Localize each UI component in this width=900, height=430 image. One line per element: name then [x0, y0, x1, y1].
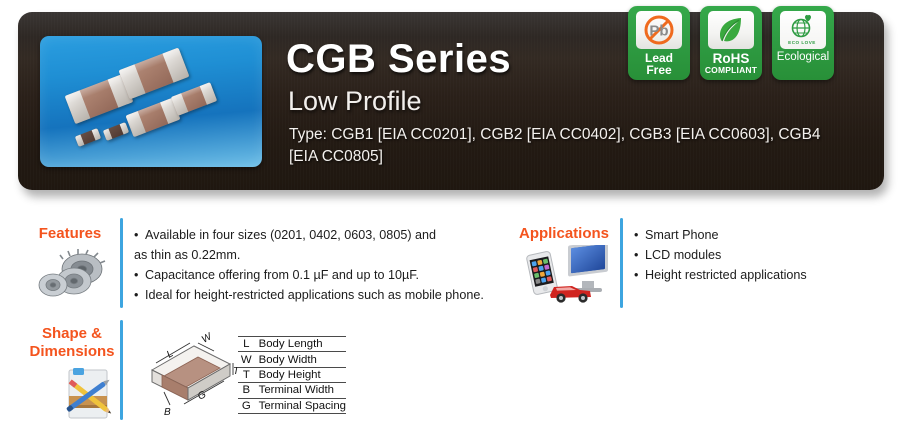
- badge-lead-free: Pb Lead Free: [628, 6, 690, 80]
- product-photo: [40, 36, 262, 167]
- applications-list: •Smart Phone •LCD modules •Height restri…: [634, 226, 807, 286]
- features-item-1: Capacitance offering from 0.1 µF and up …: [145, 268, 419, 282]
- badge-ecological-text: Ecological: [777, 52, 829, 64]
- list-item: •Smart Phone: [634, 226, 807, 246]
- applications-item-2: Height restricted applications: [645, 268, 807, 282]
- dim-description: Body Length: [255, 337, 346, 352]
- shape-dimensions-label: Shape & Dimensions: [22, 325, 122, 360]
- badge-lead-free-text: Lead Free: [645, 52, 673, 76]
- chip-capacitor-medium-2: [171, 82, 217, 116]
- applications-divider: [620, 218, 623, 308]
- diagram-label-B: B: [164, 407, 171, 418]
- chip-capacitor-large-2: [119, 48, 190, 100]
- shape-dimensions-divider: [120, 320, 123, 420]
- type-line: Type: CGB1 [EIA CC0201], CGB2 [EIA CC040…: [289, 124, 829, 168]
- svg-text:Pb: Pb: [649, 23, 668, 40]
- notepad-pencil-icon: [57, 366, 119, 424]
- chip-capacitor-small-2: [103, 122, 129, 141]
- applications-item-1: LCD modules: [645, 248, 721, 262]
- table-row: L Body Length: [238, 337, 346, 352]
- dim-description: Body Width: [255, 352, 346, 367]
- datasheet-page: CGB Series Low Profile Type: CGB1 [EIA C…: [0, 0, 900, 430]
- badge-lead-free-line2: Free: [645, 64, 673, 76]
- features-divider: [120, 218, 123, 308]
- chip-capacitor-small-1: [75, 128, 101, 147]
- table-row: W Body Width: [238, 352, 346, 367]
- features-item-0: Available in four sizes (0201, 0402, 060…: [134, 228, 436, 262]
- table-row: G Terminal Spacing: [238, 398, 346, 413]
- table-row: T Body Height: [238, 367, 346, 382]
- series-subtitle: Low Profile: [288, 85, 846, 117]
- list-item: •LCD modules: [634, 246, 807, 266]
- list-item: •Ideal for height-restricted application…: [134, 286, 484, 306]
- table-row: B Terminal Width: [238, 383, 346, 398]
- dim-symbol: W: [238, 352, 255, 367]
- badge-rohs-line2: COMPLIANT: [705, 66, 757, 75]
- badge-ecological: ECO LOVE Ecological: [772, 6, 834, 80]
- applications-label: Applications: [512, 225, 616, 243]
- eco-love-globe-icon: ECO LOVE: [780, 11, 826, 49]
- gears-icon: [36, 247, 110, 303]
- shape-label-line2: Dimensions: [22, 343, 122, 361]
- badge-rohs-compliant: RoHS COMPLIANT: [700, 6, 762, 80]
- dim-symbol: L: [238, 337, 255, 352]
- dim-symbol: B: [238, 383, 255, 398]
- list-item: •Available in four sizes (0201, 0402, 06…: [134, 226, 444, 266]
- dim-description: Terminal Width: [255, 383, 346, 398]
- features-item-2: Ideal for height-restricted applications…: [145, 288, 484, 302]
- dim-description: Terminal Spacing: [255, 398, 346, 413]
- shape-label-line1: Shape &: [22, 325, 122, 343]
- dim-description: Body Height: [255, 367, 346, 382]
- eco-love-caption: ECO LOVE: [788, 40, 816, 45]
- applications-item-0: Smart Phone: [645, 228, 719, 242]
- badge-rohs-text: RoHS COMPLIANT: [705, 52, 757, 74]
- features-list: •Available in four sizes (0201, 0402, 06…: [134, 226, 484, 306]
- list-item: •Height restricted applications: [634, 266, 807, 286]
- badge-ecological-line1: Ecological: [777, 52, 829, 64]
- dim-symbol: T: [238, 367, 255, 382]
- chip-capacitor-3d-diagram: L W T G B: [138, 330, 242, 422]
- features-label: Features: [26, 225, 114, 243]
- chip-capacitor-medium-1: [126, 98, 181, 137]
- pb-no-lead-icon: Pb: [636, 11, 682, 49]
- devices-icon: [524, 245, 616, 305]
- dim-symbol: G: [238, 398, 255, 413]
- badge-rohs-line1: RoHS: [705, 52, 757, 66]
- list-item: •Capacitance offering from 0.1 µF and up…: [134, 266, 484, 286]
- diagram-label-W: W: [200, 331, 215, 346]
- certification-badges: Pb Lead Free RoHS COMPLIANT: [628, 6, 834, 80]
- dimension-table: L Body Length W Body Width T Body Height…: [238, 336, 346, 414]
- green-leaf-icon: [708, 11, 754, 49]
